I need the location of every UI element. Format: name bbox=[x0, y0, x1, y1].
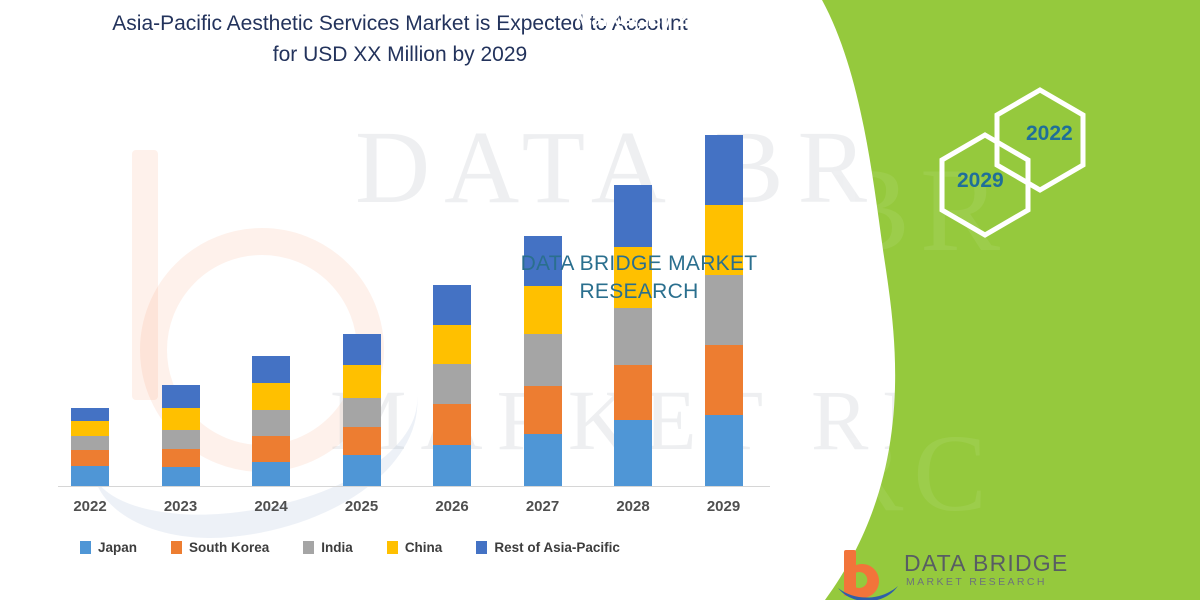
hexagon-2022-label: 2022 bbox=[1026, 122, 1073, 146]
brand-name: DATA BRIDGE MARKET RESEARCH bbox=[88, 250, 1190, 306]
brand-name-line1: DATA BRIDGE MARKET bbox=[88, 250, 1190, 278]
logo-wordmark: DATA BRIDGE bbox=[904, 550, 1068, 577]
hexagon-2029-label: 2029 bbox=[957, 169, 1004, 193]
logo-tagline: MARKET RESEARCH bbox=[906, 576, 1047, 588]
infographic-canvas: DATA BRIDGE MARKET RESEARCH Asia-Pacific… bbox=[0, 0, 1200, 600]
brand-name-line2: RESEARCH bbox=[88, 278, 1190, 306]
company-logo: DATA BRIDGE MARKET RESEARCH bbox=[838, 548, 1088, 600]
logo-mark-icon bbox=[838, 548, 900, 600]
